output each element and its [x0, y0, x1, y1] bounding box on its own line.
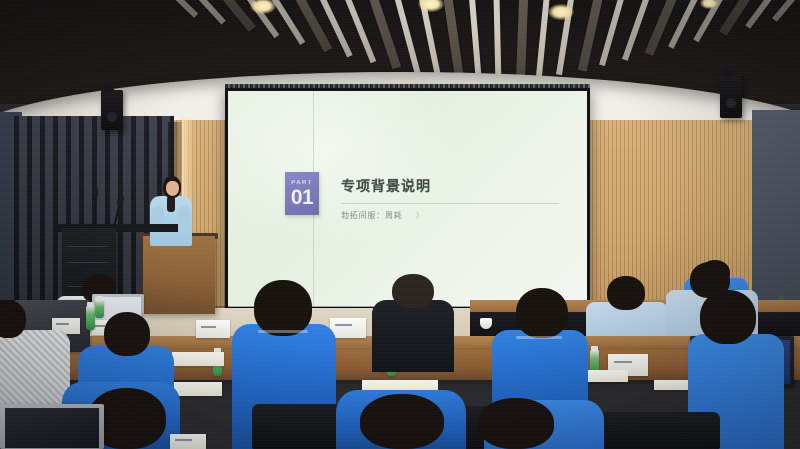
- name-card-7: [170, 434, 206, 449]
- polo-collar-2: [516, 336, 562, 339]
- polo-collar-1: [258, 330, 308, 333]
- wall-speaker-right: [720, 74, 742, 118]
- attendee-front-2-head: [360, 394, 444, 449]
- slide-part-number: 01: [291, 187, 313, 208]
- slide-subtitle: 勃拓间服：周耗: [341, 211, 403, 220]
- attendee-black-polo-head: [392, 274, 434, 308]
- handheld-microphone: [167, 196, 175, 212]
- presenter-face: [166, 181, 179, 196]
- presenter-arm-right: [178, 206, 190, 236]
- slide-text-group: 专项背景说明 勃拓间服：周耗 》: [341, 172, 559, 221]
- name-card-3: [196, 320, 230, 338]
- name-card-3-line: [201, 326, 217, 328]
- gooseneck-mic-1: [94, 196, 96, 226]
- rack-slot-1: [68, 246, 108, 247]
- name-card-4: [330, 318, 366, 338]
- mic-head-1: [92, 187, 98, 198]
- water-bottle-8: [95, 300, 104, 318]
- slide-content: PART 01 专项背景说明 勃拓间服：周耗 》: [285, 172, 559, 221]
- bottle-cap-1: [87, 302, 94, 307]
- rack-slot-2: [68, 262, 108, 263]
- chair-front-3: [600, 412, 720, 449]
- bottle-cap-8: [96, 296, 103, 301]
- attendee-blue-polo-mid-3-head: [516, 288, 568, 338]
- speaker-cone-right: [726, 98, 736, 108]
- conference-room-photo: PART 01 专项背景说明 勃拓间服：周耗 》: [0, 0, 800, 449]
- attendee-black-polo-torso: [372, 300, 454, 372]
- speaker-cone-left: [107, 112, 117, 122]
- name-card-5-line: [614, 361, 632, 363]
- slide-title: 专项背景说明: [341, 176, 559, 196]
- name-card-2-line: [95, 325, 105, 327]
- podium: [143, 236, 215, 314]
- name-card-4-line: [335, 324, 352, 326]
- slide-part-label: PART: [291, 180, 313, 186]
- projector-glare: [228, 91, 458, 251]
- slide-subtitle-row: 勃拓间服：周耗 》: [341, 210, 559, 221]
- attendee-blue-polo-mid-4-head: [700, 290, 756, 344]
- wall-speaker-left: [101, 90, 123, 130]
- name-card-1-line: [56, 323, 69, 325]
- speaker-bracket-left: [105, 85, 114, 92]
- slide-divider: [341, 203, 559, 204]
- attendee-lightblue-shirt-head: [607, 276, 645, 310]
- attendee-blue-polo-mid-1-head: [104, 312, 150, 356]
- paper-doc-2: [588, 370, 628, 382]
- paper-doc-1: [172, 352, 224, 366]
- attendee-blue-polo-mid-2-head: [254, 280, 312, 336]
- speaker-bracket-right: [724, 69, 733, 76]
- attendee-front-3-head: [478, 398, 554, 449]
- laptop-4-screen: [5, 408, 99, 448]
- ceiling-downlight-3: [548, 4, 574, 20]
- slide-page-marker: 》: [416, 211, 425, 220]
- water-bottle-1: [86, 306, 95, 330]
- bottle-cap-5: [591, 346, 598, 351]
- slide-part-badge: PART 01: [285, 172, 319, 215]
- name-card-7-line: [175, 439, 192, 441]
